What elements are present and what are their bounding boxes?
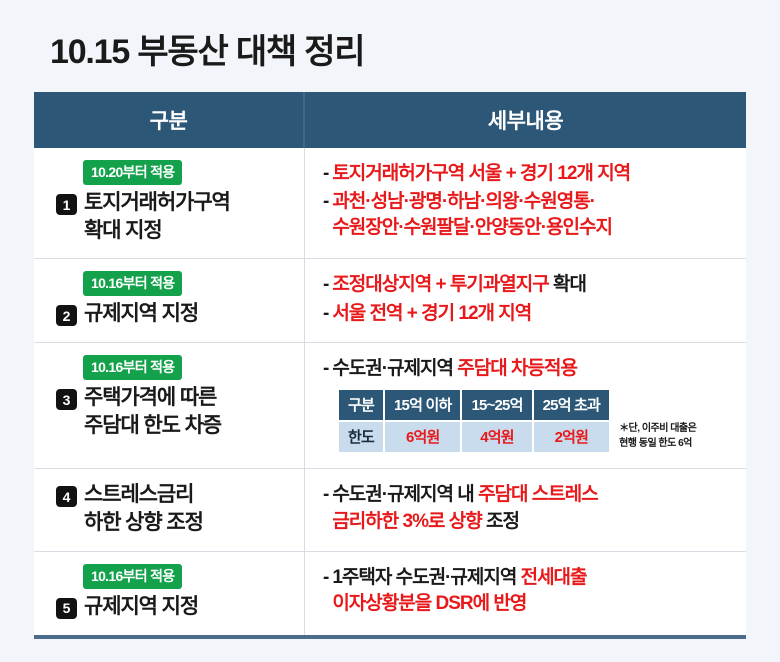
bullet-dash: - [323, 161, 328, 187]
bullet-dash: - [323, 356, 328, 382]
detail-item: -수도권·규제지역 내 주담대 스트레스 금리하한 3%로 상향 조정 [323, 482, 736, 534]
detail-text-segment: 조정 [482, 511, 519, 532]
table-body: 10.20부터 적용1토지거래허가구역 확대 지정-토지거래허가구역 서울 + … [34, 148, 746, 635]
table-row: 10.20부터 적용1토지거래허가구역 확대 지정-토지거래허가구역 서울 + … [34, 148, 746, 259]
row-label-text: 스트레스금리 하한 상향 조정 [84, 481, 203, 536]
row-label-text: 규제지역 지정 [84, 300, 198, 328]
detail-text-segment: 수도권·규제지역 [332, 358, 457, 379]
detail-text: 1주택자 수도권·규제지역 전세대출 이자상황분을 DSR에 반영 [332, 565, 586, 617]
detail-item: -수도권·규제지역 주담대 차등적용 [323, 356, 736, 382]
row-detail-cell: -1주택자 수도권·규제지역 전세대출 이자상황분을 DSR에 반영 [305, 552, 746, 635]
detail-item: -1주택자 수도권·규제지역 전세대출 이자상황분을 DSR에 반영 [323, 565, 736, 617]
detail-text-segment: 확대 [553, 274, 586, 295]
row-number-badge: 2 [56, 305, 77, 326]
mini-table-header-cell: 15~25억 [462, 390, 531, 420]
table-row: 10.16부터 적용3주택가격에 따른 주담대 한도 차증-수도권·규제지역 주… [34, 343, 746, 469]
detail-text-segment: 과천·성남·광명·하남·의왕·수원영통· 수원장안·수원팔달·안양동안·용인수지 [332, 191, 612, 238]
detail-text-segment: 조정대상지역 + 투기과열지구 [332, 274, 553, 295]
mini-table-header-row: 구분15억 이하15~25억25억 초과 [339, 390, 609, 420]
row-detail-cell: -조정대상지역 + 투기과열지구 확대-서울 전역 + 경기 12개 지역 [305, 259, 746, 342]
detail-text: 수도권·규제지역 내 주담대 스트레스 금리하한 3%로 상향 조정 [332, 482, 597, 534]
bullet-dash: - [323, 189, 328, 215]
table-row: 4스트레스금리 하한 상향 조정-수도권·규제지역 내 주담대 스트레스 금리하… [34, 469, 746, 551]
effective-date-badge: 10.20부터 적용 [83, 160, 182, 185]
row-label-line: 4스트레스금리 하한 상향 조정 [56, 481, 203, 536]
row-label-line: 3주택가격에 따른 주담대 한도 차증 [56, 384, 221, 439]
row-number-badge: 3 [56, 389, 77, 410]
loan-limit-mini-table-wrapper: 구분15억 이하15~25억25억 초과한도6억원4억원2억원＊단, 이주비 대… [337, 388, 736, 454]
effective-date-badge: 10.16부터 적용 [83, 271, 182, 296]
bullet-dash: - [323, 301, 328, 327]
table-row: 10.16부터 적용5규제지역 지정-1주택자 수도권·규제지역 전세대출 이자… [34, 552, 746, 635]
row-label-text: 주택가격에 따른 주담대 한도 차증 [84, 384, 221, 439]
row-detail-cell: -수도권·규제지역 주담대 차등적용구분15억 이하15~25억25억 초과한도… [305, 343, 746, 468]
detail-text-segment: 수도권·규제지역 내 [332, 484, 478, 505]
mini-table-value-cell: 2억원 [534, 422, 609, 452]
row-detail-cell: -수도권·규제지역 내 주담대 스트레스 금리하한 3%로 상향 조정 [305, 469, 746, 550]
column-header-details: 세부내용 [305, 92, 746, 148]
detail-text: 토지거래허가구역 서울 + 경기 12개 지역 [332, 161, 630, 187]
page-title: 10.15 부동산 대책 정리 [50, 24, 364, 73]
row-label-line: 2규제지역 지정 [56, 300, 198, 328]
mini-table-value-row: 한도6억원4억원2억원 [339, 422, 609, 452]
row-label-line: 1토지거래허가구역 확대 지정 [56, 189, 230, 244]
mini-table-header-cell: 25억 초과 [534, 390, 609, 420]
detail-text-segment: 서울 전역 + 경기 12개 지역 [332, 303, 531, 324]
column-header-category: 구분 [34, 92, 305, 148]
detail-text: 과천·성남·광명·하남·의왕·수원영통· 수원장안·수원팔달·안양동안·용인수지 [332, 189, 612, 241]
detail-text: 서울 전역 + 경기 12개 지역 [332, 301, 531, 327]
bullet-dash: - [323, 565, 328, 591]
row-category-cell: 10.16부터 적용5규제지역 지정 [34, 552, 305, 635]
detail-text: 조정대상지역 + 투기과열지구 확대 [332, 272, 586, 298]
row-label-text: 토지거래허가구역 확대 지정 [84, 189, 230, 244]
row-category-cell: 10.20부터 적용1토지거래허가구역 확대 지정 [34, 148, 305, 258]
infographic-page: 10.15 부동산 대책 정리 구분 세부내용 10.20부터 적용1토지거래허… [0, 0, 780, 662]
row-label-text: 규제지역 지정 [84, 593, 198, 621]
effective-date-badge: 10.16부터 적용 [83, 355, 182, 380]
row-number-badge: 1 [56, 194, 77, 215]
table-header-row: 구분 세부내용 [34, 92, 746, 148]
detail-item: -과천·성남·광명·하남·의왕·수원영통· 수원장안·수원팔달·안양동안·용인수… [323, 189, 736, 241]
detail-text-segment: 주담대 차등적용 [457, 358, 577, 379]
mini-table-row-label: 한도 [339, 422, 383, 452]
mini-table-header-cell: 15억 이하 [385, 390, 460, 420]
mini-table-footnote: ＊단, 이주비 대출은 현행 동일 한도 6억 [619, 422, 696, 451]
loan-limit-mini-table: 구분15억 이하15~25억25억 초과한도6억원4억원2억원 [337, 388, 611, 454]
mini-table-header-cell: 구분 [339, 390, 383, 420]
bullet-dash: - [323, 272, 328, 298]
row-number-badge: 5 [56, 598, 77, 619]
detail-item: -토지거래허가구역 서울 + 경기 12개 지역 [323, 161, 736, 187]
detail-text-segment: 토지거래허가구역 서울 + 경기 12개 지역 [332, 163, 630, 184]
row-category-cell: 10.16부터 적용3주택가격에 따른 주담대 한도 차증 [34, 343, 305, 468]
mini-table-value-cell: 4억원 [462, 422, 531, 452]
table-row: 10.16부터 적용2규제지역 지정-조정대상지역 + 투기과열지구 확대-서울… [34, 259, 746, 343]
detail-text-segment: 1주택자 수도권·규제지역 [332, 567, 520, 588]
effective-date-badge: 10.16부터 적용 [83, 564, 182, 589]
row-category-cell: 10.16부터 적용2규제지역 지정 [34, 259, 305, 342]
detail-text: 수도권·규제지역 주담대 차등적용 [332, 356, 577, 382]
detail-item: -서울 전역 + 경기 12개 지역 [323, 301, 736, 327]
row-category-cell: 4스트레스금리 하한 상향 조정 [34, 469, 305, 550]
mini-table-value-cell: 6억원 [385, 422, 460, 452]
policy-table: 구분 세부내용 10.20부터 적용1토지거래허가구역 확대 지정-토지거래허가… [34, 92, 746, 639]
detail-item: -조정대상지역 + 투기과열지구 확대 [323, 272, 736, 298]
bullet-dash: - [323, 482, 328, 508]
row-label-line: 5규제지역 지정 [56, 593, 198, 621]
row-detail-cell: -토지거래허가구역 서울 + 경기 12개 지역-과천·성남·광명·하남·의왕·… [305, 148, 746, 258]
row-number-badge: 4 [56, 486, 77, 507]
